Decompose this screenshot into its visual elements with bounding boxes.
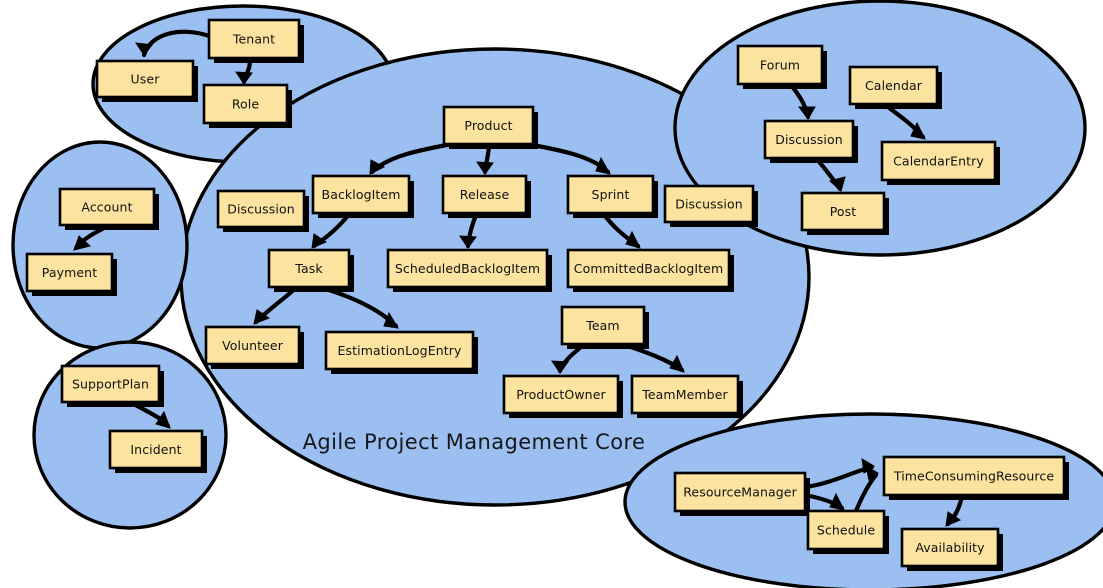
context-ellipse-billing[interactable] [13, 142, 187, 348]
entity-label: ScheduledBacklogItem [395, 261, 540, 276]
entity-label: Calendar [865, 78, 923, 93]
entity-label: Discussion [675, 197, 742, 212]
context-label-agile-project-management-core: Agile Project Management Core [303, 430, 646, 454]
entity-box-availability[interactable]: Availability [902, 529, 1003, 571]
entity-label: Payment [42, 265, 97, 280]
entity-box-timeconsumingresource[interactable]: TimeConsumingResource [884, 457, 1069, 500]
entity-label: Release [460, 187, 510, 202]
entity-label: TeamMember [641, 387, 728, 402]
entity-box-calendarentry[interactable]: CalendarEntry [882, 142, 1000, 185]
entity-label: Product [464, 118, 512, 133]
entity-label: Account [81, 200, 132, 215]
entity-label: Role [232, 97, 260, 112]
entity-box-incident[interactable]: Incident [110, 431, 207, 473]
entity-box-role[interactable]: Role [204, 85, 292, 128]
entity-label: ProductOwner [516, 387, 606, 402]
entity-box-backlogitem[interactable]: BacklogItem [313, 176, 414, 218]
entity-box-scheduledbacklogitem[interactable]: ScheduledBacklogItem [388, 250, 552, 292]
entity-label: Post [830, 204, 857, 219]
entity-label: SupportPlan [72, 377, 149, 392]
entity-label: Team [585, 318, 619, 333]
entity-box-teammember[interactable]: TeamMember [632, 376, 743, 418]
entity-box-volunteer[interactable]: Volunteer [206, 327, 304, 369]
entity-box-sprint[interactable]: Sprint [568, 176, 658, 218]
diagram-svg: UserTenantRoleProductBacklogItemReleaseS… [0, 0, 1103, 588]
entity-box-discussion-core-right[interactable]: Discussion [665, 186, 758, 227]
entity-label: Discussion [775, 132, 842, 147]
diagram-canvas: UserTenantRoleProductBacklogItemReleaseS… [0, 0, 1103, 588]
entity-label: Task [294, 261, 323, 276]
entity-box-discussion-collab[interactable]: Discussion [765, 121, 858, 163]
entity-box-task[interactable]: Task [269, 250, 354, 292]
entity-label: Discussion [227, 202, 294, 217]
entity-box-resourcemanager[interactable]: ResourceManager [675, 473, 810, 516]
entity-box-supportplan[interactable]: SupportPlan [62, 366, 164, 407]
entity-label: CommittedBacklogItem [574, 261, 724, 276]
entity-label: Sprint [592, 187, 630, 202]
entity-box-estimationlogentry[interactable]: EstimationLogEntry [326, 332, 478, 374]
context-labels-group: Agile Project Management Core [303, 430, 646, 454]
entity-label: ResourceManager [683, 485, 797, 500]
entity-box-team[interactable]: Team [562, 307, 649, 349]
entity-label: User [131, 72, 161, 87]
entity-box-product[interactable]: Product [444, 107, 538, 149]
entity-box-committedbacklogitem[interactable]: CommittedBacklogItem [568, 250, 734, 292]
entity-label: TimeConsumingResource [893, 469, 1054, 484]
entity-box-user[interactable]: User [97, 61, 198, 102]
entity-label: EstimationLogEntry [338, 343, 462, 358]
entity-box-forum[interactable]: Forum [738, 46, 827, 89]
entity-label: Forum [760, 58, 800, 73]
entity-box-calendar[interactable]: Calendar [850, 67, 942, 109]
entity-box-productowner[interactable]: ProductOwner [504, 376, 623, 418]
entity-box-tenant[interactable]: Tenant [209, 20, 304, 63]
entity-box-release[interactable]: Release [443, 176, 531, 218]
entity-box-account[interactable]: Account [60, 189, 159, 230]
entity-label: Volunteer [222, 338, 284, 353]
entity-label: Schedule [817, 523, 875, 538]
entity-box-payment[interactable]: Payment [27, 254, 117, 296]
entity-box-schedule[interactable]: Schedule [808, 511, 889, 554]
entity-label: BacklogItem [322, 187, 401, 202]
entity-label: Incident [130, 442, 181, 457]
entity-label: Availability [915, 540, 985, 555]
entity-label: CalendarEntry [893, 154, 984, 169]
entity-box-post[interactable]: Post [802, 193, 889, 235]
entity-label: Tenant [232, 32, 275, 47]
entity-box-discussion-core-left[interactable]: Discussion [218, 191, 309, 232]
